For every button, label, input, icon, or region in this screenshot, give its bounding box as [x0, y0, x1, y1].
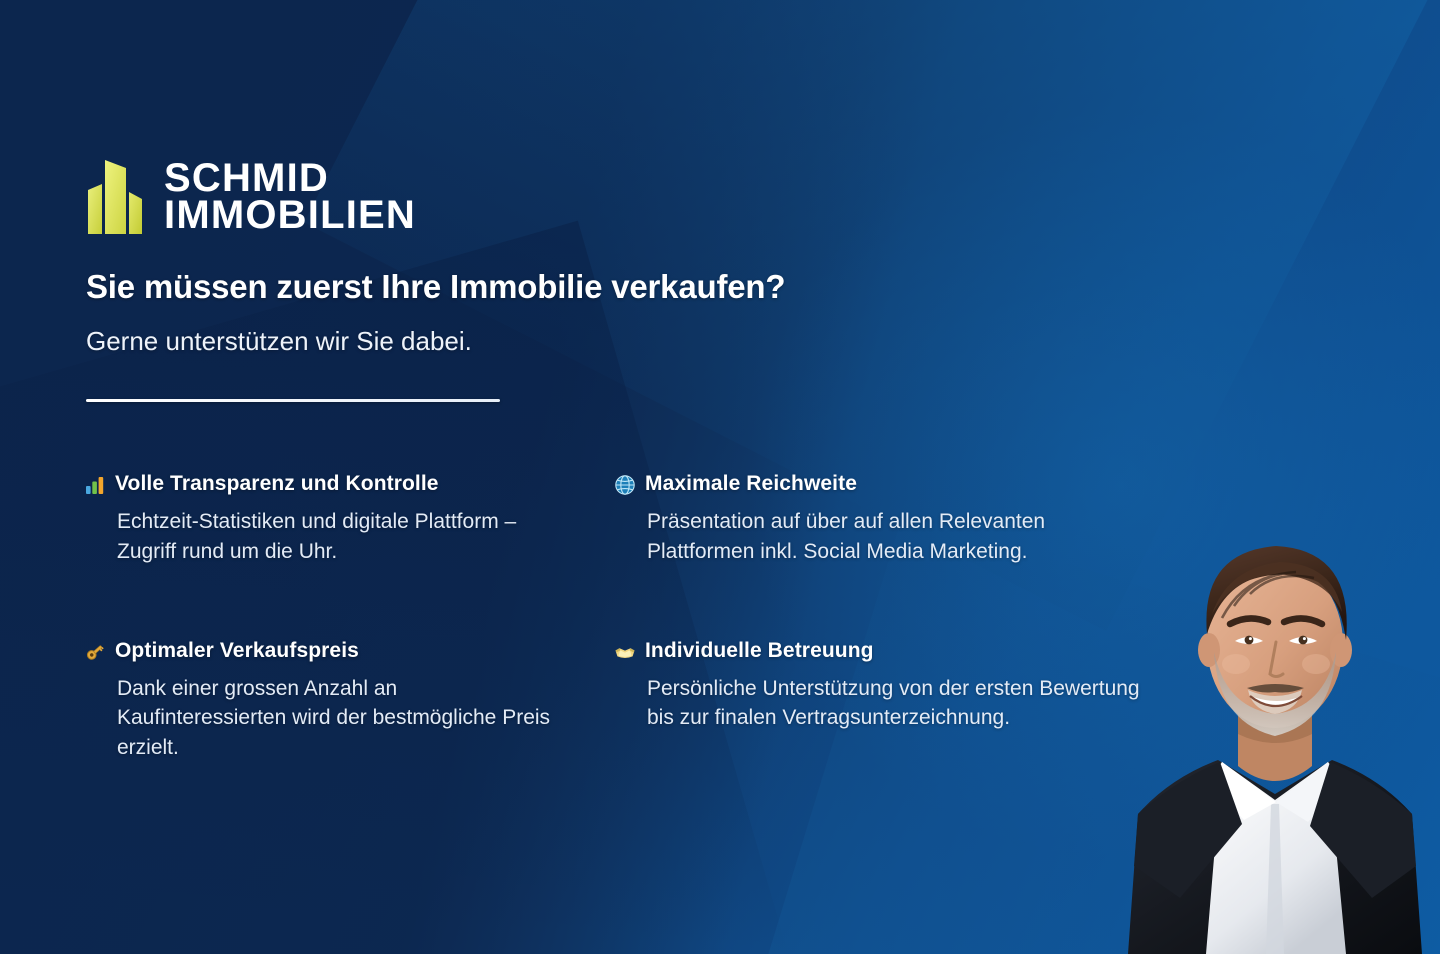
- feature-item-reichweite: Maximale Reichweite Präsentation auf übe…: [614, 472, 1174, 567]
- feature-description: Präsentation auf über auf allen Relevant…: [614, 507, 1154, 567]
- feature-item-verkaufspreis: Optimaler Verkaufspreis Dank einer gross…: [84, 639, 614, 763]
- bar-chart-icon: [84, 474, 106, 496]
- key-icon: [84, 641, 106, 663]
- feature-item-betreuung: Individuelle Betreuung Persönliche Unter…: [614, 639, 1174, 763]
- feature-title: Individuelle Betreuung: [645, 639, 874, 663]
- globe-icon: [614, 474, 636, 496]
- portrait-illustration: [1110, 494, 1440, 954]
- divider-rule: [86, 399, 500, 402]
- feature-description: Echtzeit-Statistiken und digitale Plattf…: [84, 507, 554, 567]
- feature-grid: Volle Transparenz und Kontrolle Echtzeit…: [84, 472, 1204, 763]
- feature-title: Optimaler Verkaufspreis: [115, 639, 359, 663]
- page-title: Sie müssen zuerst Ihre Immobilie verkauf…: [86, 268, 785, 306]
- feature-description: Persönliche Unterstützung von der ersten…: [614, 674, 1154, 734]
- feature-title: Maximale Reichweite: [645, 472, 857, 496]
- handshake-icon: [614, 641, 636, 663]
- page-subtitle: Gerne unterstützen wir Sie dabei.: [86, 326, 472, 357]
- agent-portrait-photo: [1110, 494, 1440, 954]
- feature-description: Dank einer grossen Anzahl an Kaufinteres…: [84, 674, 554, 763]
- feature-title: Volle Transparenz und Kontrolle: [115, 472, 439, 496]
- slide-content: SCHMID IMMOBILIEN Sie müssen zuerst Ihre…: [0, 0, 1440, 954]
- brand-name-line1: SCHMID: [164, 160, 416, 197]
- brand-name-line2: IMMOBILIEN: [164, 197, 416, 234]
- building-logo-icon: [86, 158, 144, 236]
- feature-item-transparenz: Volle Transparenz und Kontrolle Echtzeit…: [84, 472, 614, 567]
- brand-logo: SCHMID IMMOBILIEN: [86, 158, 416, 236]
